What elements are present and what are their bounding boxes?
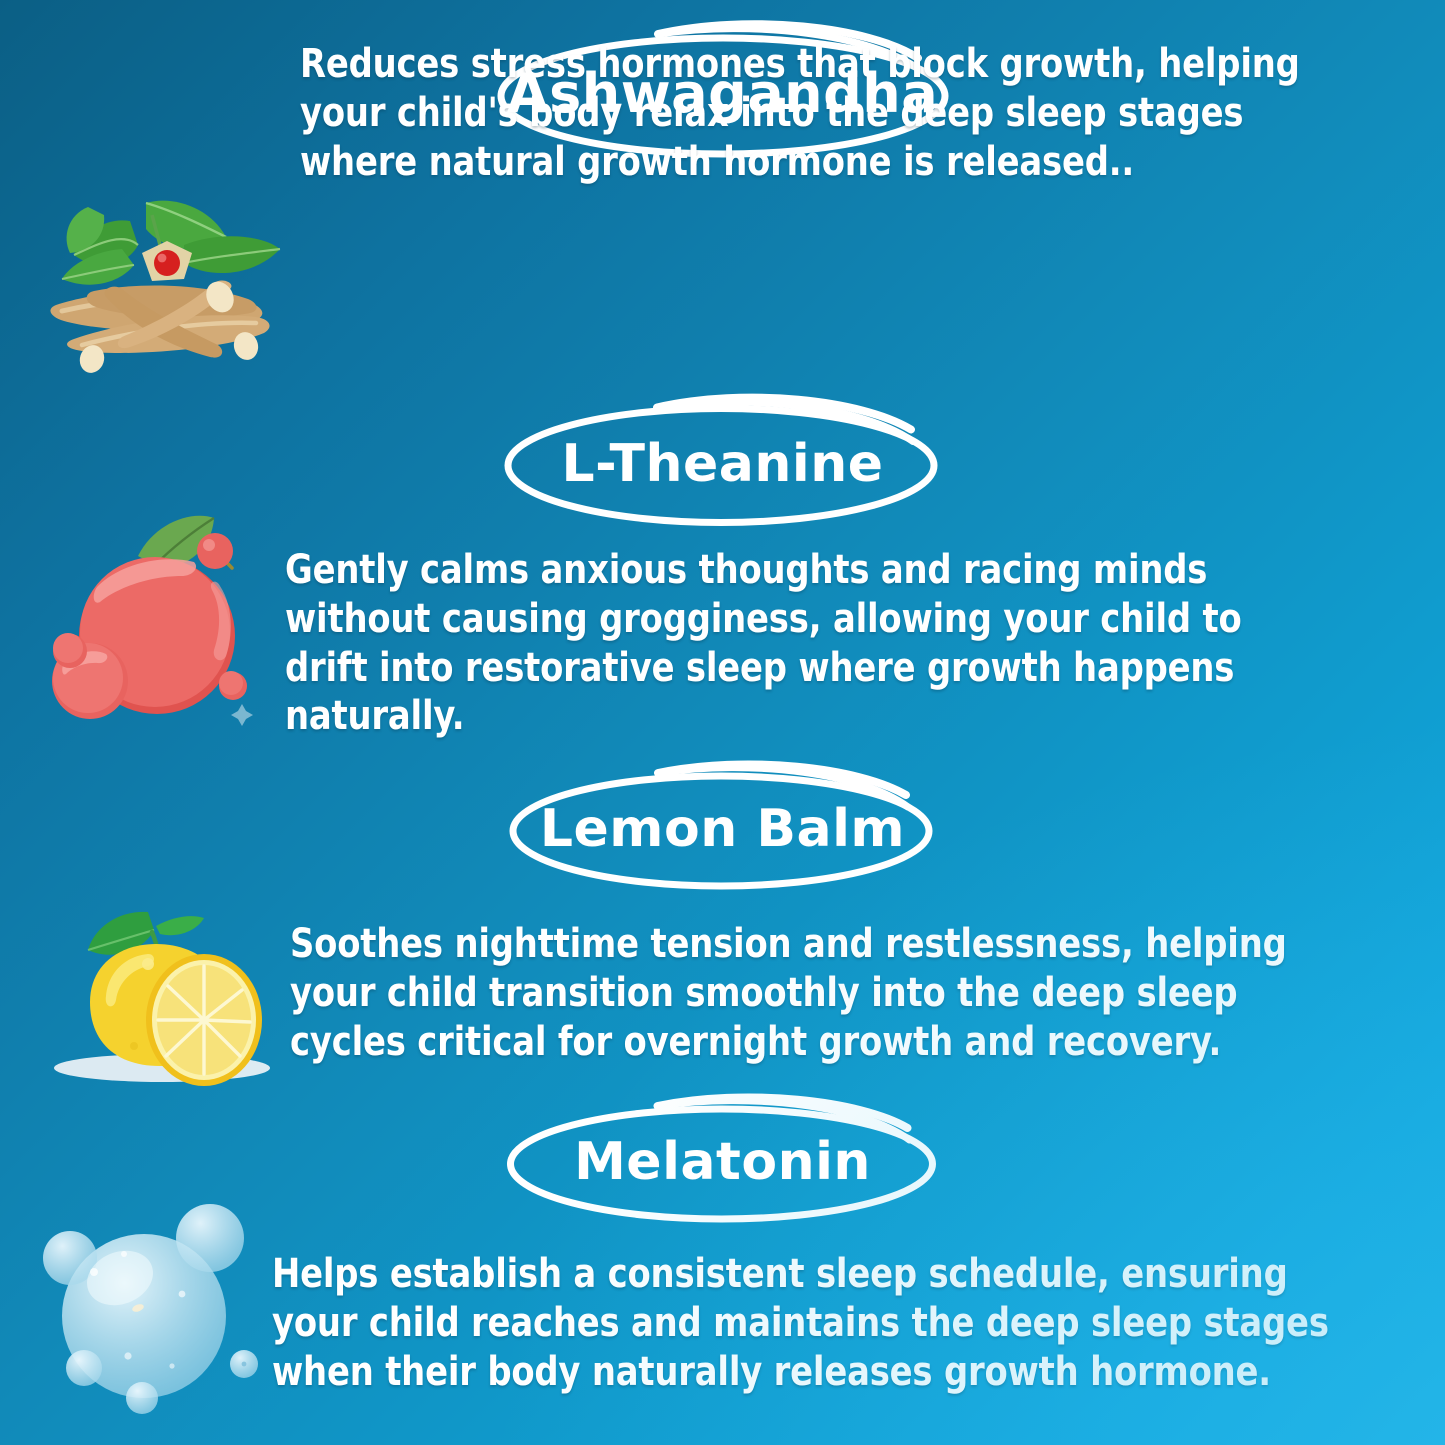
- section-title: Melatonin: [574, 1132, 871, 1192]
- tea-berry-icon: [42, 506, 272, 736]
- ingredients-poster: Ashwagandha: [0, 0, 1445, 1445]
- section-body: Helps establish a consistent sleep sched…: [272, 1250, 1348, 1396]
- section-melatonin: Melatonin: [0, 1098, 1445, 1445]
- section-body: Gently calms anxious thoughts and racing…: [285, 546, 1305, 741]
- section-lemon-balm: Lemon Balm: [0, 765, 1445, 1095]
- lemon-icon: [52, 900, 282, 1085]
- section-l-theanine: L-Theanine G: [0, 398, 1445, 758]
- section-title: Lemon Balm: [540, 799, 905, 859]
- section-ashwagandha: Ashwagandha: [0, 18, 1445, 388]
- title-badge-lemon-balm: Lemon Balm: [0, 765, 1445, 893]
- section-title: L-Theanine: [561, 434, 883, 494]
- bubble-droplet-icon: [32, 1216, 272, 1431]
- section-body: Soothes nighttime tension and restlessne…: [290, 920, 1315, 1066]
- ashwagandha-root-icon: [34, 193, 296, 378]
- section-title: Ashwagandha: [507, 62, 938, 125]
